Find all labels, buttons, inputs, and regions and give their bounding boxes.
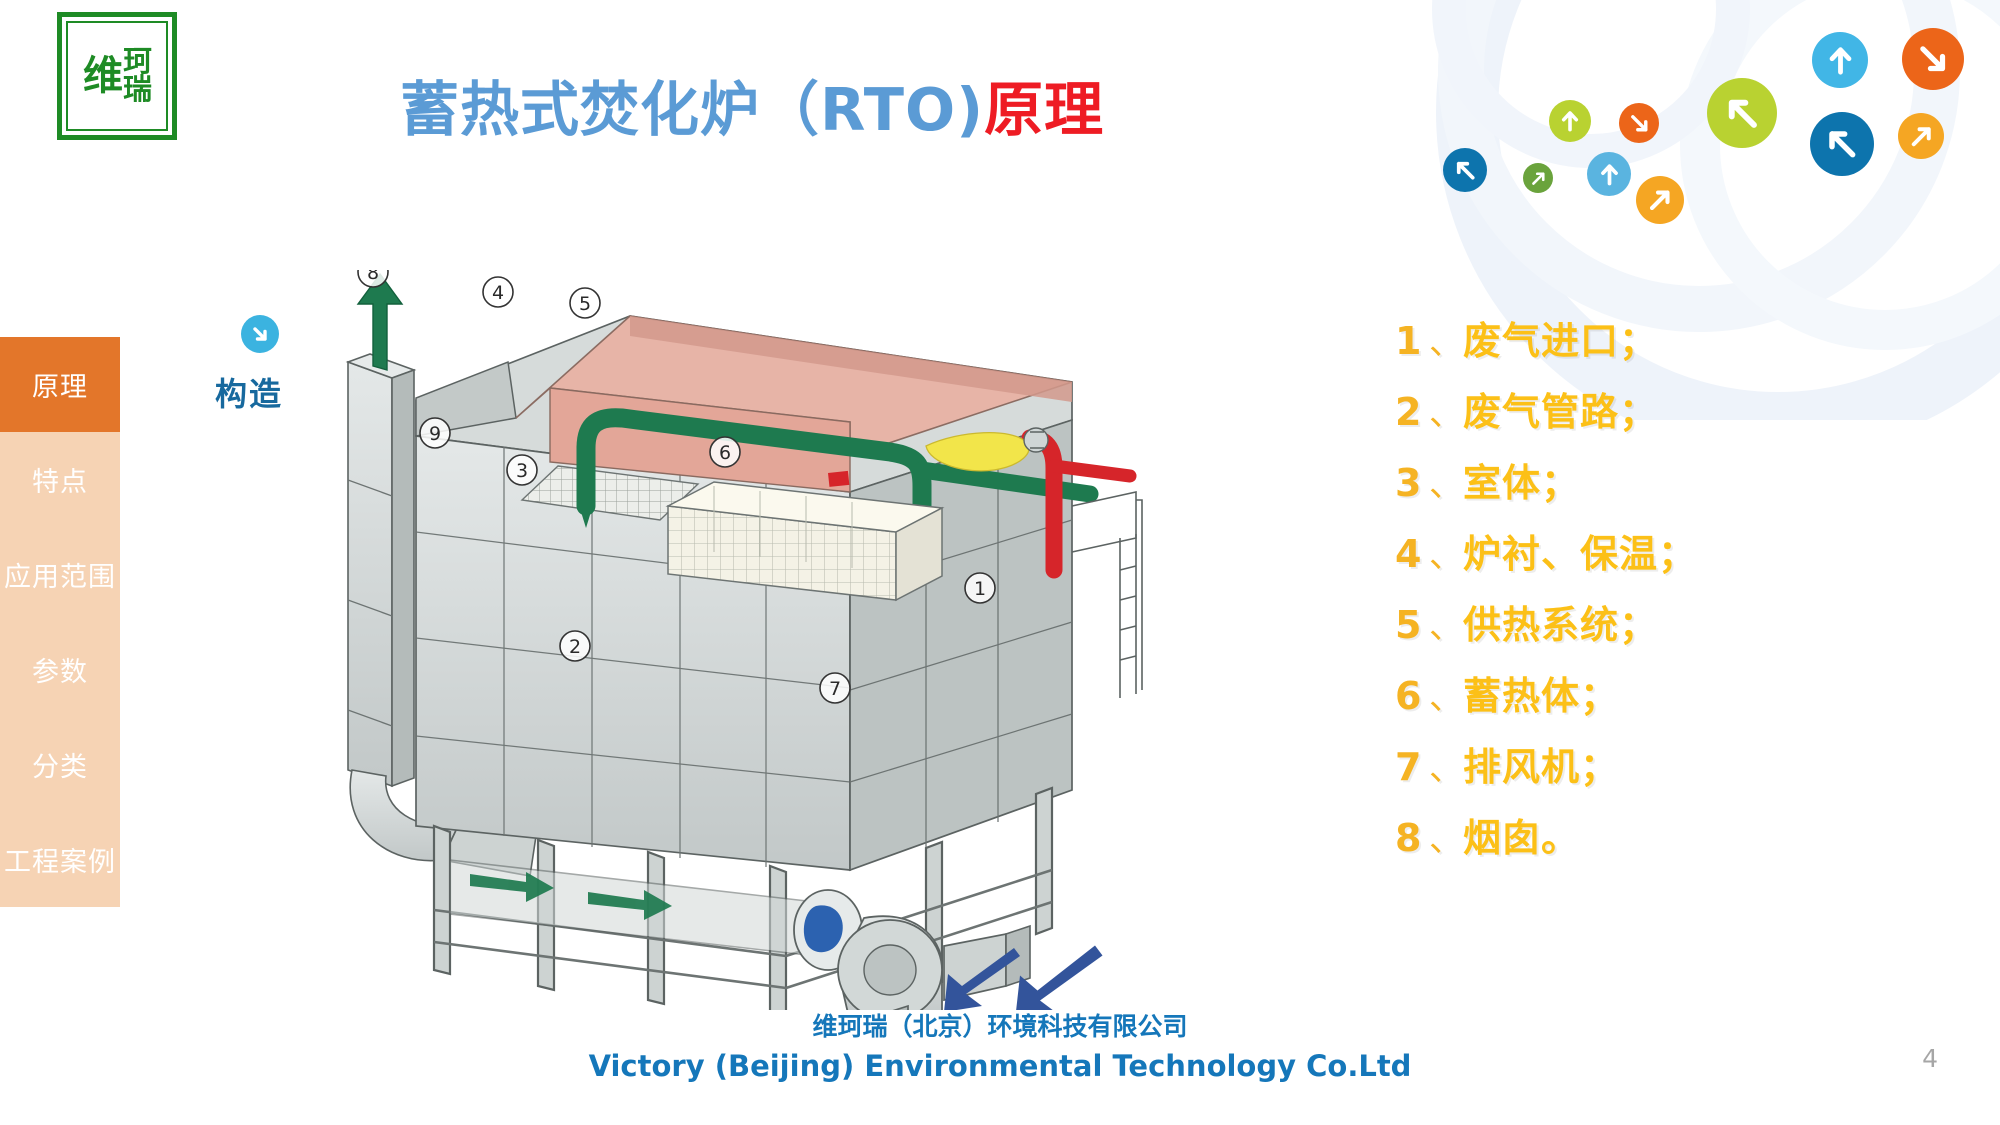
sidebar-item-label: 应用范围	[4, 555, 116, 594]
callout-2: 2	[560, 631, 590, 661]
legend-separator: 、	[1429, 812, 1463, 861]
legend-item-8: 8、烟囱。	[1395, 807, 1915, 878]
sidebar-item-3[interactable]: 应用范围	[0, 527, 120, 622]
section-sidebar: 原理特点应用范围参数分类工程案例	[0, 337, 120, 907]
callout-6: 6	[710, 437, 740, 467]
sidebar-item-1[interactable]: 原理	[0, 337, 120, 432]
legend-separator: 、	[1429, 528, 1463, 577]
sidebar-item-label: 参数	[32, 650, 88, 689]
legend-label: 排风机；	[1463, 736, 1619, 791]
legend-separator: 、	[1429, 315, 1463, 364]
arrow-up-circle-icon	[1812, 32, 1868, 88]
arrow-down-right-circle-icon	[241, 315, 279, 353]
sidebar-item-label: 工程案例	[4, 840, 116, 879]
callout-1: 1	[965, 573, 995, 603]
legend-item-5: 5、供热系统；	[1395, 594, 1915, 665]
arrow-down-right-circle-icon	[1902, 28, 1964, 90]
sidebar-item-6[interactable]: 工程案例	[0, 812, 120, 907]
sidebar-item-5[interactable]: 分类	[0, 717, 120, 812]
legend-separator: 、	[1429, 741, 1463, 790]
legend-item-6: 6、蓄热体；	[1395, 665, 1915, 736]
logo-border: 维 珂 瑞	[66, 21, 168, 131]
arrow-up-left-circle-icon	[1707, 78, 1777, 148]
callout-3: 3	[507, 455, 537, 485]
footer-company-en: Victory (Beijing) Environmental Technolo…	[0, 1049, 2000, 1083]
legend-separator: 、	[1429, 386, 1463, 435]
callout-5: 5	[570, 288, 600, 318]
legend-item-1: 1、废气进口；	[1395, 310, 1915, 381]
arrow-up-circle-icon	[1549, 100, 1591, 142]
legend-label: 室体；	[1463, 452, 1580, 507]
ring-small	[1432, 0, 1750, 168]
page-title: 蓄热式焚化炉（RTO)原理	[400, 62, 1400, 142]
diagram-fan	[782, 890, 942, 1010]
logo-char-column: 珂 瑞	[123, 48, 151, 103]
legend-number: 4	[1395, 532, 1429, 576]
diagram-furnace-body	[416, 316, 1142, 1010]
arrow-up-left-circle-icon	[1443, 148, 1487, 192]
page-number: 4	[1922, 1044, 1938, 1073]
component-legend: 1、废气进口；2、废气管路；3、室体；4、炉衬、保温；5、供热系统；6、蓄热体；…	[1395, 310, 1915, 878]
legend-number: 5	[1395, 603, 1429, 647]
callout-4: 4	[483, 277, 513, 307]
sidebar-item-label: 原理	[32, 365, 88, 404]
legend-separator: 、	[1429, 670, 1463, 719]
legend-label: 废气进口；	[1463, 310, 1658, 365]
legend-item-3: 3、室体；	[1395, 452, 1915, 523]
svg-text:9: 9	[429, 423, 441, 445]
legend-number: 1	[1395, 319, 1429, 363]
legend-label: 供热系统；	[1463, 594, 1658, 649]
sidebar-item-2[interactable]: 特点	[0, 432, 120, 527]
svg-text:5: 5	[579, 293, 591, 315]
callout-9: 9	[420, 418, 450, 448]
svg-text:3: 3	[516, 460, 528, 482]
legend-separator: 、	[1429, 457, 1463, 506]
legend-label: 烟囱。	[1463, 807, 1580, 862]
sidebar-item-4[interactable]: 参数	[0, 622, 120, 717]
footer-company-cn: 维珂瑞（北京）环境科技有限公司	[0, 1007, 2000, 1043]
title-highlight: 原理	[984, 75, 1104, 144]
legend-item-2: 2、废气管路；	[1395, 381, 1915, 452]
svg-text:1: 1	[974, 578, 986, 600]
diagram-ladder	[1072, 492, 1142, 698]
legend-item-4: 4、炉衬、保温；	[1395, 523, 1915, 594]
legend-label: 废气管路；	[1463, 381, 1658, 436]
arrow-up-right-circle-icon	[1636, 176, 1684, 224]
svg-text:7: 7	[829, 678, 841, 700]
svg-text:4: 4	[492, 282, 504, 304]
svg-text:6: 6	[719, 442, 731, 464]
logo-characters: 维 珂 瑞	[83, 48, 151, 103]
legend-number: 8	[1395, 816, 1429, 860]
sidebar-item-label: 分类	[32, 745, 88, 784]
title-main: 蓄热式焚化炉（RTO)	[400, 75, 984, 144]
arrow-up-circle-icon	[1587, 152, 1631, 196]
legend-number: 7	[1395, 745, 1429, 789]
legend-number: 3	[1395, 461, 1429, 505]
logo-char-rui: 瑞	[123, 76, 151, 104]
rto-furnace-diagram: 123456789	[330, 270, 1270, 1010]
svg-text:2: 2	[569, 636, 581, 658]
svg-text:8: 8	[367, 270, 379, 284]
sidebar-item-label: 特点	[32, 460, 88, 499]
arrow-up-left-circle-icon	[1810, 112, 1874, 176]
arrow-up-right-circle-icon	[1523, 163, 1553, 193]
legend-label: 蓄热体；	[1463, 665, 1619, 720]
legend-item-7: 7、排风机；	[1395, 736, 1915, 807]
callout-7: 7	[820, 673, 850, 703]
slide-footer: 维珂瑞（北京）环境科技有限公司 Victory (Beijing) Enviro…	[0, 1007, 2000, 1083]
legend-label: 炉衬、保温；	[1463, 523, 1697, 578]
legend-separator: 、	[1429, 599, 1463, 648]
arrow-down-right-circle-icon	[1619, 103, 1659, 143]
logo-char-wei: 维	[83, 57, 121, 95]
slide-canvas: 维 珂 瑞 蓄热式焚化炉（RTO)原理 原理特点应用范围参数分类工程案例 构造	[0, 0, 2000, 1125]
ring-mid	[1438, 0, 1960, 332]
arrow-up-right-circle-icon	[1898, 113, 1944, 159]
legend-number: 6	[1395, 674, 1429, 718]
company-logo: 维 珂 瑞	[57, 12, 177, 140]
legend-number: 2	[1395, 390, 1429, 434]
